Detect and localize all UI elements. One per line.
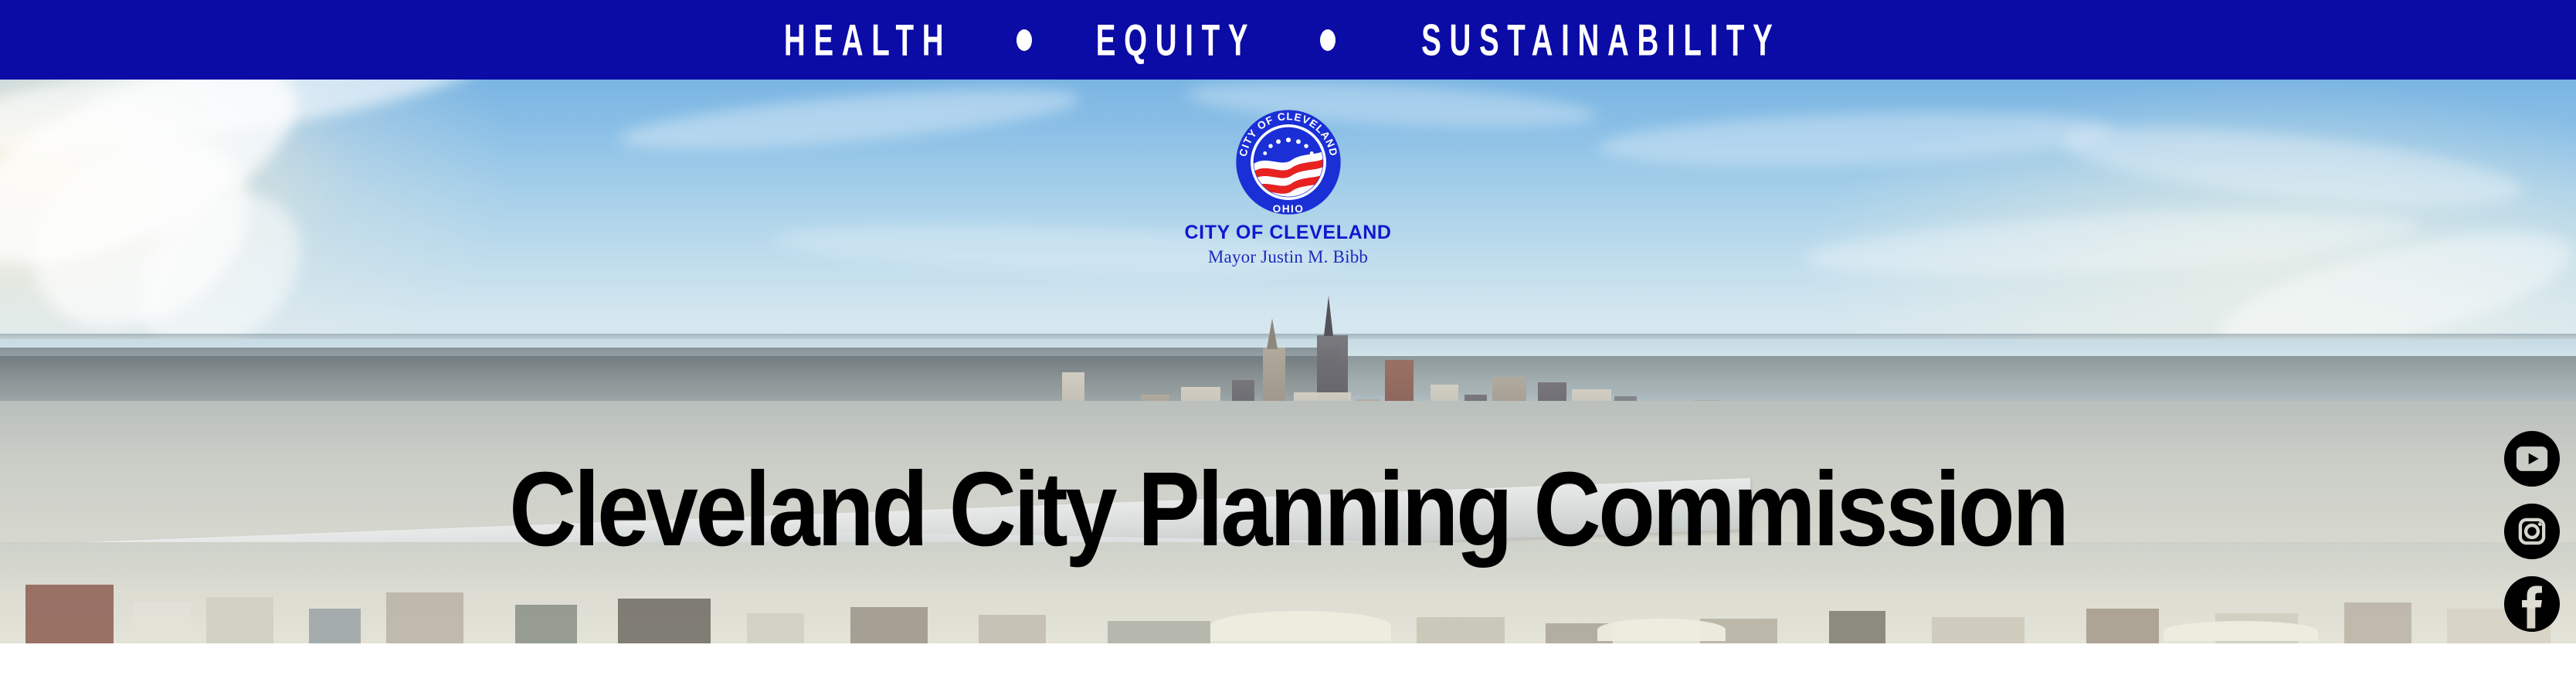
facebook-icon[interactable] (2504, 576, 2560, 632)
hero-photo: CITY OF CLEVELAND OHIO (0, 80, 2576, 643)
city-of-cleveland-seal-icon: CITY OF CLEVELAND OHIO (1233, 107, 1344, 218)
banner-dot-separator-2 (1320, 29, 1336, 51)
mayor-name-label: Mayor Justin M. Bibb (1118, 247, 1458, 266)
city-name-label: CITY OF CLEVELAND (1118, 222, 1458, 244)
top-banner: HEALTH EQUITY SUSTAINABILITY (0, 0, 2576, 80)
social-links-rail[interactable] (2503, 431, 2561, 632)
banner-text-group: HEALTH EQUITY SUSTAINABILITY (765, 22, 1821, 58)
youtube-icon[interactable] (2504, 431, 2560, 487)
banner-word-sustainability: SUSTAINABILITY (1421, 18, 1780, 62)
svg-text:OHIO: OHIO (1272, 203, 1304, 215)
banner-word-health: HEALTH (784, 18, 952, 62)
bottom-white-strip (0, 643, 2576, 682)
page-root: HEALTH EQUITY SUSTAINABILITY (0, 0, 2576, 682)
banner-word-equity: EQUITY (1096, 18, 1256, 62)
instagram-icon[interactable] (2504, 504, 2560, 559)
banner-dot-separator-1 (1016, 29, 1032, 51)
foreground-buildings (0, 542, 2576, 643)
city-branding-block: CITY OF CLEVELAND OHIO (1118, 107, 1458, 266)
